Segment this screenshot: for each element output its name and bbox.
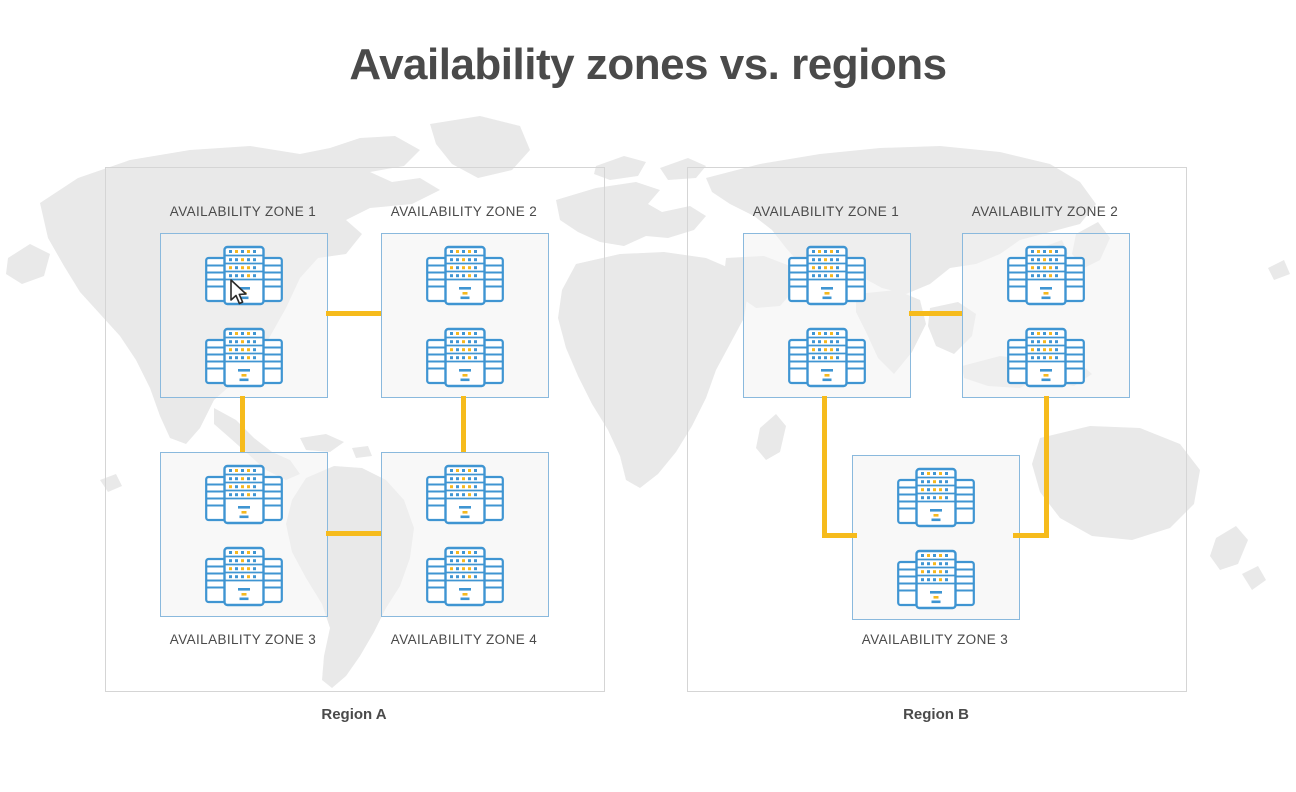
server-rack-icon: [1007, 244, 1085, 306]
zone-label-a3: AVAILABILITY ZONE 3: [160, 632, 326, 647]
availability-zone-b1[interactable]: [743, 233, 911, 398]
page-title: Availability zones vs. regions: [0, 40, 1296, 90]
region-b-label: Region B: [687, 706, 1185, 723]
server-rack-icon: [426, 463, 504, 525]
server-rack-icon: [897, 466, 975, 528]
server-rack-icon: [205, 244, 283, 306]
zone-label-b2: AVAILABILITY ZONE 2: [962, 204, 1128, 219]
availability-zone-a1[interactable]: [160, 233, 328, 398]
connector-b2-b3-horizontal: [1013, 533, 1049, 538]
server-rack-icon: [205, 463, 283, 525]
zone-label-a1: AVAILABILITY ZONE 1: [160, 204, 326, 219]
server-rack-icon: [426, 545, 504, 607]
connector-b1-b3-vertical: [822, 396, 827, 538]
availability-zone-a2[interactable]: [381, 233, 549, 398]
connector-a3-a4: [326, 531, 381, 536]
zone-label-a2: AVAILABILITY ZONE 2: [381, 204, 547, 219]
availability-zone-a3[interactable]: [160, 452, 328, 617]
server-rack-icon: [897, 548, 975, 610]
connector-b2-b3-vertical: [1044, 396, 1049, 538]
region-a-label: Region A: [105, 706, 603, 723]
diagram-canvas: Availability zones vs. regions AVAILABIL…: [0, 0, 1296, 792]
availability-zone-b3[interactable]: [852, 455, 1020, 620]
zone-label-b3: AVAILABILITY ZONE 3: [852, 632, 1018, 647]
server-rack-icon: [788, 244, 866, 306]
zone-label-b1: AVAILABILITY ZONE 1: [743, 204, 909, 219]
server-rack-icon: [788, 326, 866, 388]
connector-a1-a3: [240, 396, 245, 452]
connector-a1-a2: [326, 311, 381, 316]
server-rack-icon: [1007, 326, 1085, 388]
availability-zone-a4[interactable]: [381, 452, 549, 617]
connector-a2-a4: [461, 396, 466, 452]
server-rack-icon: [205, 545, 283, 607]
connector-b1-b3-horizontal: [822, 533, 857, 538]
server-rack-icon: [205, 326, 283, 388]
availability-zone-b2[interactable]: [962, 233, 1130, 398]
zone-label-a4: AVAILABILITY ZONE 4: [381, 632, 547, 647]
server-rack-icon: [426, 326, 504, 388]
server-rack-icon: [426, 244, 504, 306]
connector-b1-b2: [909, 311, 962, 316]
